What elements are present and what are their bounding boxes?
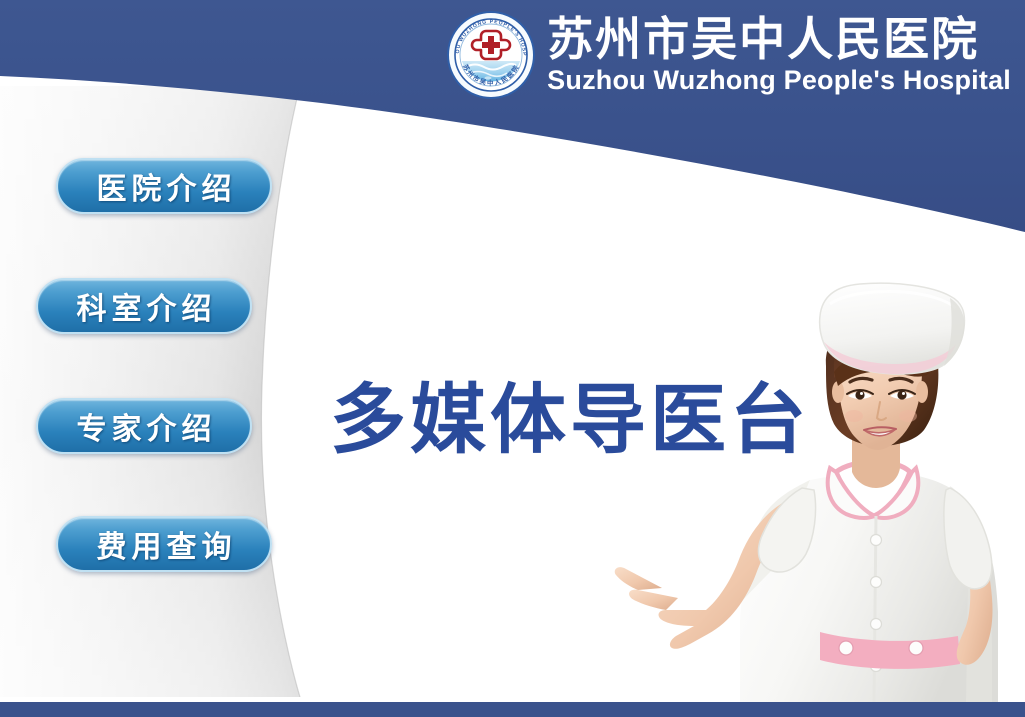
sidebar-item-label: 科室介绍 — [72, 284, 217, 328]
hospital-name-en: Suzhou Wuzhong People's Hospital — [547, 67, 1011, 94]
sidebar-item-fee-inquiry[interactable]: 费用查询 — [56, 516, 272, 572]
hospital-name-cn: 苏州市吴中人民医院 — [547, 16, 979, 62]
page-title: 多媒体导医台 — [330, 358, 810, 468]
sidebar-item-label: 费用查询 — [92, 522, 237, 566]
sidebar-item-expert-introduction[interactable]: 专家介绍 — [36, 398, 252, 454]
sidebar-item-hospital-introduction[interactable]: 医院介绍 — [56, 158, 272, 214]
hospital-circular-emblem-icon: SUZHOU WUZHONG PEOPLE'S HOSPITAL 苏州市吴中人民… — [447, 11, 535, 99]
sidebar-item-department-introduction[interactable]: 科室介绍 — [36, 278, 252, 334]
nurse-presenting-illustration — [598, 282, 1025, 703]
hospital-name-block: 苏州市吴中人民医院 Suzhou Wuzhong People's Hospit… — [547, 16, 1011, 94]
sidebar-nav: 医院介绍 科室介绍 专家介绍 费用查询 — [0, 0, 340, 717]
hospital-brand: SUZHOU WUZHONG PEOPLE'S HOSPITAL 苏州市吴中人民… — [447, 11, 1011, 99]
footer-bar — [0, 702, 1025, 717]
sidebar-item-label: 专家介绍 — [72, 404, 217, 448]
sidebar-item-label: 医院介绍 — [92, 164, 237, 208]
kiosk-screen: SUZHOU WUZHONG PEOPLE'S HOSPITAL 苏州市吴中人民… — [0, 0, 1025, 717]
